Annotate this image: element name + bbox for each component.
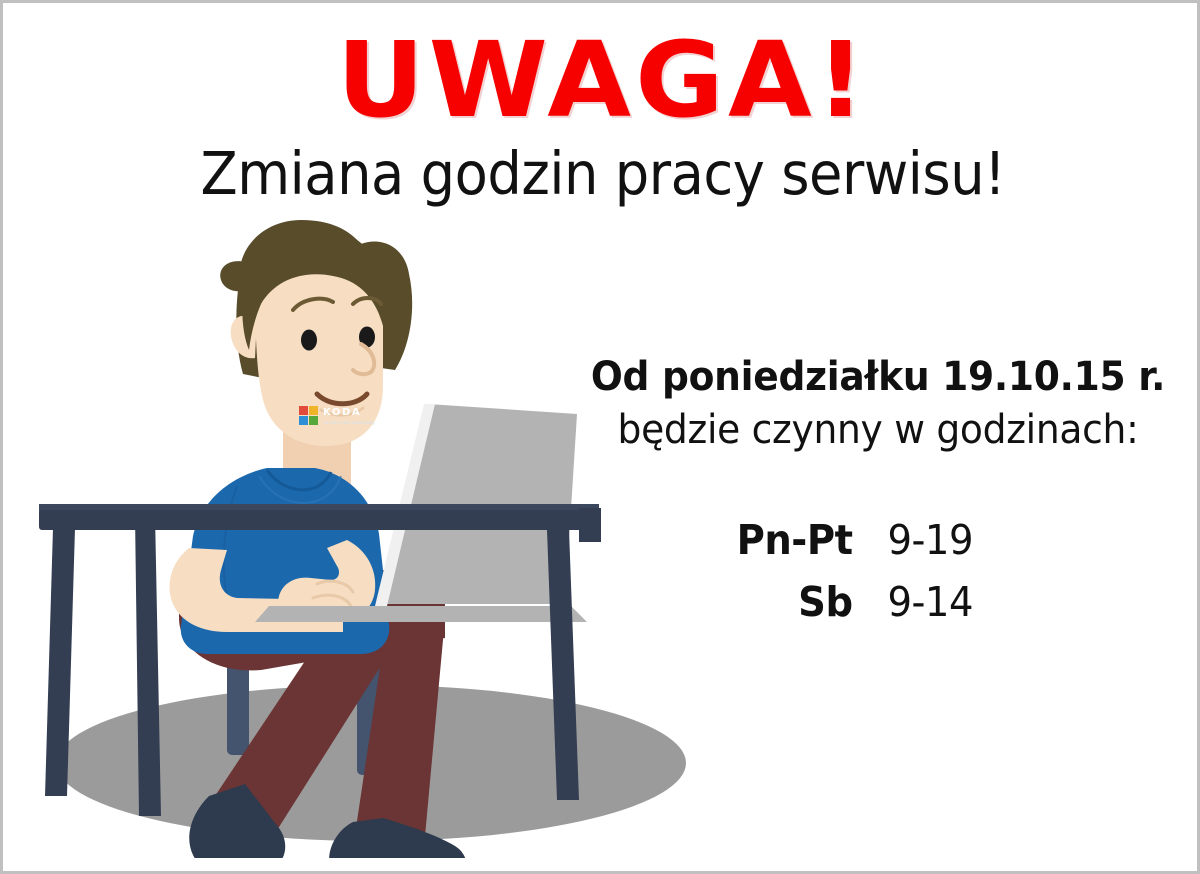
table-row: Sb 9-14 [563, 571, 1193, 633]
page-subtitle: Zmiana godzin pracy serwisu! [51, 135, 1155, 207]
eye-near [301, 330, 317, 351]
hours-day-label: Pn-Pt [572, 509, 868, 571]
hours-time-value: 9-19 [887, 509, 1183, 571]
desk-top [39, 508, 599, 530]
effective-date-line: Od poniedziałku 19.10.15 r. [582, 351, 1174, 403]
desk-edge [39, 504, 599, 510]
opening-hours-table: Pn-Pt 9-19 Sb 9-14 [563, 509, 1193, 633]
laptop-base [255, 606, 587, 622]
info-block: Od poniedziałku 19.10.15 r. będzie czynn… [563, 351, 1193, 633]
svg-text:serwis komputerowy: serwis komputerowy [323, 420, 375, 426]
opening-intro-line: będzie czynny w godzinach: [582, 403, 1174, 457]
table-row: Pn-Pt 9-19 [563, 509, 1193, 571]
hours-time-value: 9-14 [887, 571, 1183, 633]
hours-day-label: Sb [572, 571, 868, 633]
svg-text:KODA: KODA [323, 407, 361, 418]
desk-leg-middle [135, 514, 161, 816]
poster-canvas: UWAGA! Zmiana godzin pracy serwisu! [0, 0, 1200, 874]
headline-block: UWAGA! Zmiana godzin pracy serwisu! [3, 3, 1200, 207]
page-title: UWAGA! [0, 3, 1200, 135]
